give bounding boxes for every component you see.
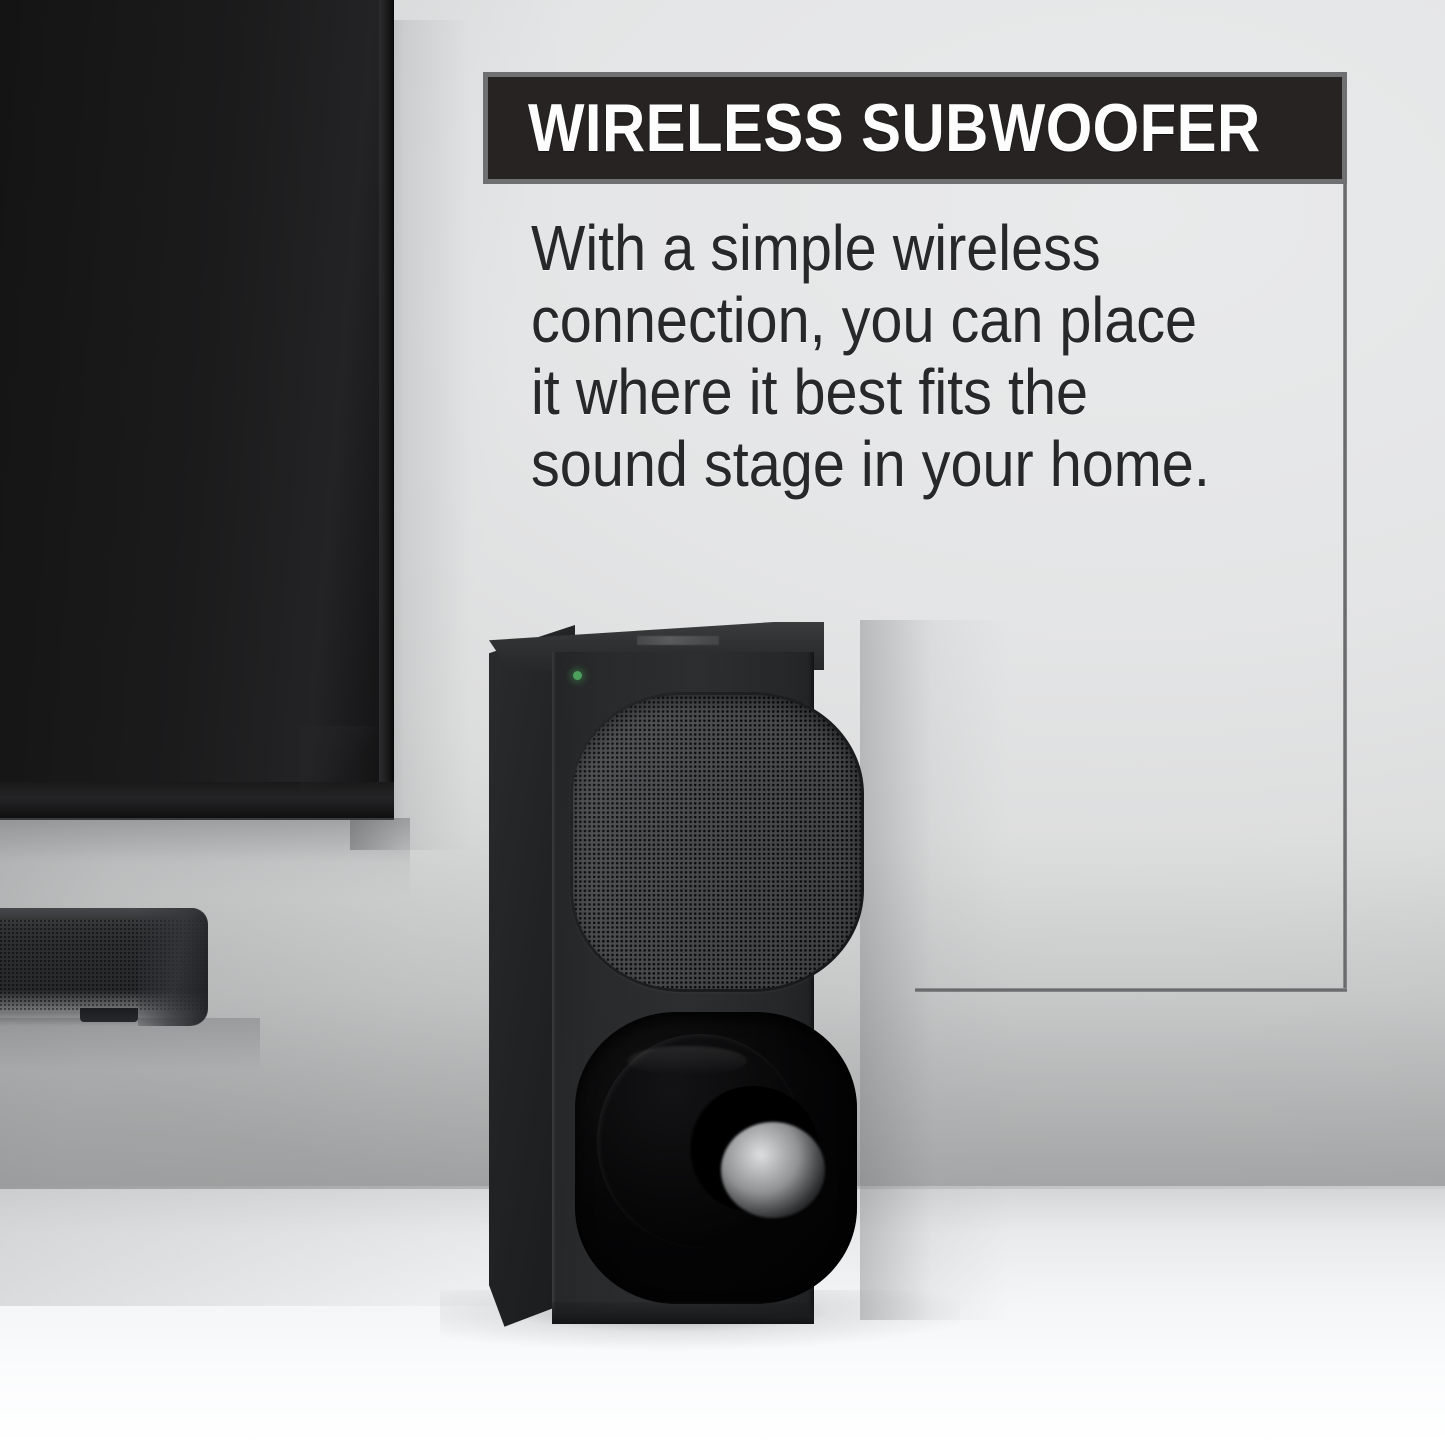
soundbar (0, 908, 208, 1026)
subwoofer-front-left-highlight (552, 652, 556, 1324)
product-marketing-scene: WIRELESS SUBWOOFER With a simple wireles… (0, 0, 1445, 1445)
subwoofer-base-shading (552, 1302, 814, 1324)
body-line-3: it where it best fits the (531, 356, 1260, 428)
callout-frame-bottom-line (915, 988, 1347, 992)
banner-title: WIRELESS SUBWOOFER (528, 94, 1261, 162)
callout-body-copy: With a simple wireless connection, you c… (531, 212, 1260, 500)
callout-frame-right-line (1343, 180, 1347, 992)
bass-port-upper-arc-highlight (627, 1046, 747, 1076)
tv-bottom-right-corner (300, 726, 378, 796)
body-line-1: With a simple wireless (531, 212, 1260, 284)
subwoofer-driver-grille (570, 692, 864, 992)
brand-logo-emboss (637, 636, 719, 645)
power-indicator-led (573, 671, 582, 680)
bass-port-specular-highlight (721, 1122, 825, 1218)
body-line-2: connection, you can place (531, 284, 1260, 356)
subwoofer-bass-port (575, 1012, 857, 1304)
tv-under-shadow (0, 818, 410, 898)
soundbar-right-end-cap (138, 908, 208, 1026)
soundbar-bottom-lip (80, 1008, 138, 1022)
tv-right-bezel (379, 0, 394, 820)
soundbar-cast-shadow (0, 1018, 260, 1108)
callout-banner: WIRELESS SUBWOOFER (483, 72, 1347, 184)
body-line-4: sound stage in your home. (531, 428, 1260, 500)
television (0, 0, 394, 820)
wireless-subwoofer (480, 612, 900, 1332)
